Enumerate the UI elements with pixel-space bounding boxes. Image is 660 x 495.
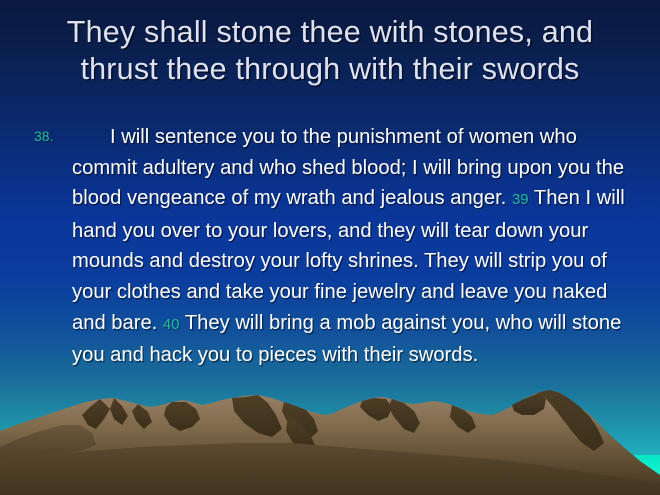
slide-canvas: They shall stone thee with stones, and t… (0, 0, 660, 495)
verse-marker-38: 38. (34, 128, 53, 144)
mountain-range-illustration (0, 385, 660, 495)
verse-marker-39: 39 (512, 191, 529, 208)
slide-title: They shall stone thee with stones, and t… (8, 14, 652, 88)
verse-paragraph: 38. I will sentence you to the punishmen… (34, 122, 634, 371)
slide-body: 38. I will sentence you to the punishmen… (34, 122, 634, 371)
verse-marker-40: 40 (163, 316, 180, 333)
verse-body-text: I will sentence you to the punishment of… (72, 122, 634, 371)
